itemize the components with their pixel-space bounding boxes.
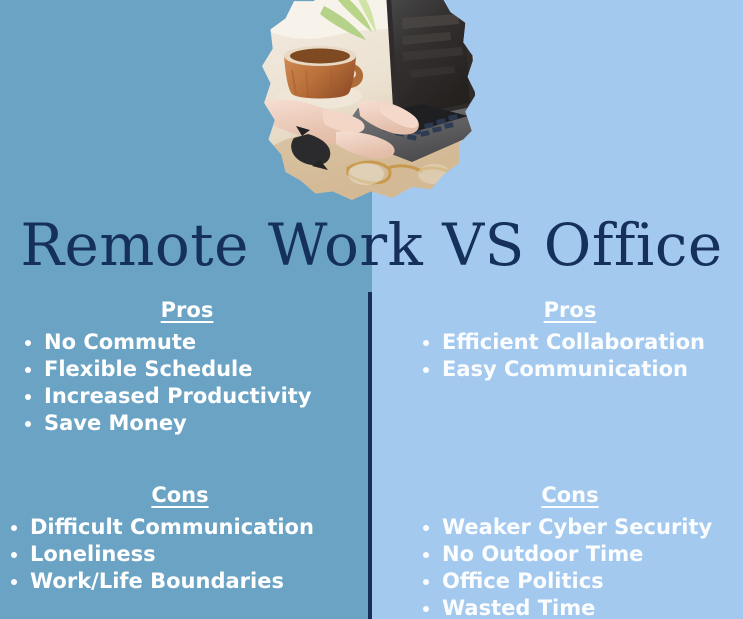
list-item: No Commute [22, 329, 352, 356]
list-item: Wasted Time [420, 595, 720, 619]
list-item: Increased Productivity [22, 383, 352, 410]
bullet-icon [11, 525, 17, 531]
bullet-icon [25, 394, 31, 400]
list-item-label: Efficient Collaboration [442, 330, 705, 354]
list-item-label: Work/Life Boundaries [30, 569, 284, 593]
office-pros-list: Efficient Collaboration Easy Communicati… [420, 329, 720, 383]
list-item: Office Politics [420, 568, 720, 595]
list-item-label: Increased Productivity [44, 384, 312, 408]
bullet-icon [423, 525, 429, 531]
list-item-label: Difficult Communication [30, 515, 314, 539]
photo-scalloped-mask [262, 0, 476, 200]
office-cons-block: Cons Weaker Cyber Security No Outdoor Ti… [420, 482, 720, 619]
list-item-label: Wasted Time [442, 596, 595, 619]
office-pros-block: Pros Efficient Collaboration Easy Commun… [420, 297, 720, 383]
hands-typing-on-laptop-photo [262, 0, 476, 200]
office-cons-list: Weaker Cyber Security No Outdoor Time Of… [420, 514, 720, 619]
list-item: Work/Life Boundaries [8, 568, 352, 595]
list-item: No Outdoor Time [420, 541, 720, 568]
bullet-icon [423, 340, 429, 346]
list-item: Save Money [22, 410, 352, 437]
coffee-mug [278, 46, 363, 109]
column-divider [368, 292, 372, 619]
list-item: Flexible Schedule [22, 356, 352, 383]
remote-cons-block: Cons Difficult Communication Loneliness … [8, 482, 352, 595]
bullet-icon [423, 367, 429, 373]
bullet-icon [423, 606, 429, 612]
list-item-label: Easy Communication [442, 357, 688, 381]
list-item-label: No Commute [44, 330, 196, 354]
list-item-label: Office Politics [442, 569, 604, 593]
bullet-icon [11, 579, 17, 585]
list-item-label: No Outdoor Time [442, 542, 643, 566]
remote-pros-heading: Pros [22, 297, 352, 323]
page-title: Remote Work VS Office [0, 209, 743, 281]
bullet-icon [11, 552, 17, 558]
remote-pros-list: No Commute Flexible Schedule Increased P… [22, 329, 352, 437]
list-item-label: Weaker Cyber Security [442, 515, 712, 539]
list-item-label: Save Money [44, 411, 187, 435]
list-item-label: Flexible Schedule [44, 357, 253, 381]
list-item: Weaker Cyber Security [420, 514, 720, 541]
bullet-icon [25, 367, 31, 373]
bullet-icon [423, 579, 429, 585]
laptop-scene-illustration [262, 0, 476, 200]
list-item: Difficult Communication [8, 514, 352, 541]
list-item: Loneliness [8, 541, 352, 568]
bullet-icon [423, 552, 429, 558]
list-item-label: Loneliness [30, 542, 156, 566]
remote-pros-block: Pros No Commute Flexible Schedule Increa… [22, 297, 352, 437]
bullet-icon [25, 340, 31, 346]
remote-cons-heading: Cons [8, 482, 352, 508]
infographic-poster: Remote Work VS Office Pros No Commute Fl… [0, 0, 743, 619]
list-item: Easy Communication [420, 356, 720, 383]
office-pros-heading: Pros [420, 297, 720, 323]
office-cons-heading: Cons [420, 482, 720, 508]
bullet-icon [25, 421, 31, 427]
list-item: Efficient Collaboration [420, 329, 720, 356]
remote-cons-list: Difficult Communication Loneliness Work/… [8, 514, 352, 595]
